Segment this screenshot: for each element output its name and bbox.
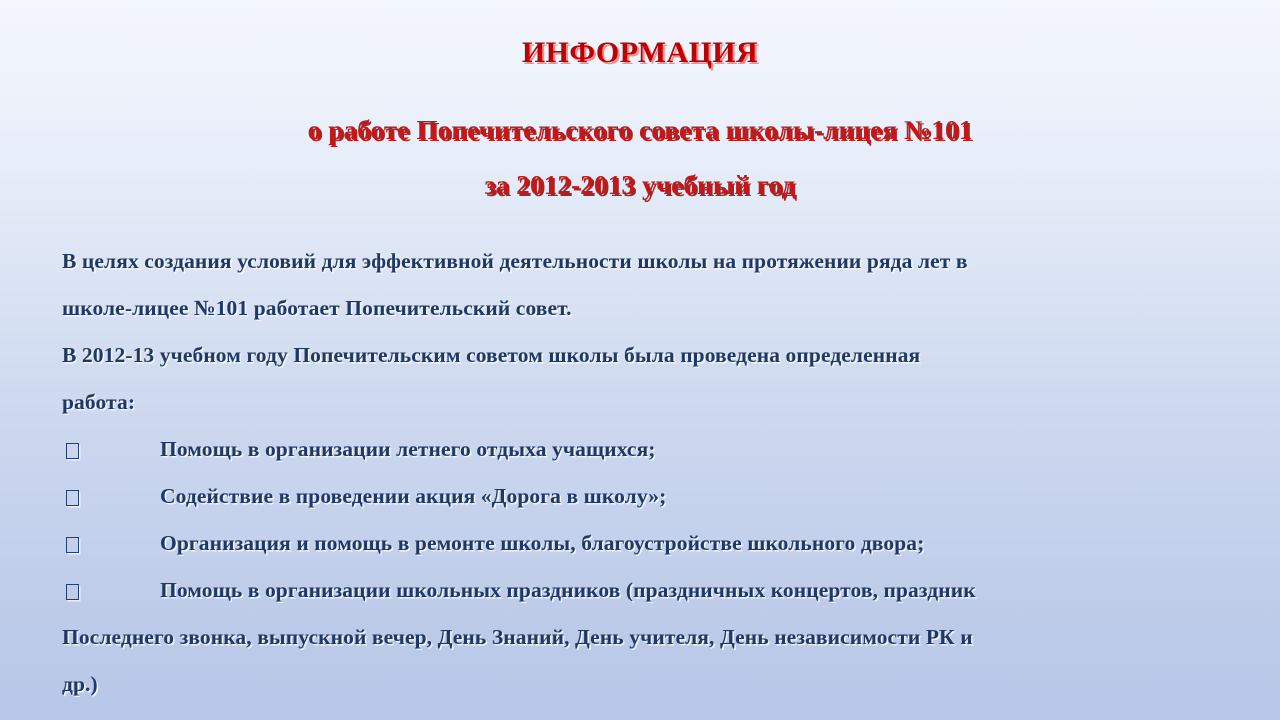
list-item-label: Помощь в организации школьных праздников… [160,567,976,614]
slide-title: ИНФОРМАЦИЯ [0,36,1280,71]
bullet-box-icon [66,584,79,600]
paragraph-1-line-1: В целях создания условий для эффективной… [62,238,1222,285]
list-item-label: Помощь в организации летнего отдыха учащ… [160,426,656,473]
list-item-label: Организация и помощь в ремонте школы, бл… [160,520,924,567]
bullet-box-icon [66,490,79,506]
paragraph-2-line-2: работа: [62,379,1222,426]
list-item: Содействие в проведении акция «Дорога в … [62,473,1222,520]
presentation-slide: ИНФОРМАЦИЯ о работе Попечительского сове… [0,0,1280,720]
list-item-4-continuation-line-1: Последнего звонка, выпускной вечер, День… [62,614,1222,661]
paragraph-1-line-2: школе-лицее №101 работает Попечительский… [62,285,1222,332]
slide-subtitle-line-1: о работе Попечительского совета школы-ли… [0,115,1280,147]
slide-header: ИНФОРМАЦИЯ о работе Попечительского сове… [0,36,1280,202]
list-item-4-continuation-line-2: др.) [62,661,1222,708]
bullet-box-icon [66,537,79,553]
list-item-label: Содействие в проведении акция «Дорога в … [160,473,666,520]
list-item: Организация и помощь в ремонте школы, бл… [62,520,1222,567]
paragraph-2-line-1: В 2012-13 учебном году Попечительским со… [62,332,1222,379]
slide-subtitle-line-2: за 2012-2013 учебный год [0,170,1280,202]
list-item: Помощь в организации летнего отдыха учащ… [62,426,1222,473]
list-item: Помощь в организации школьных праздников… [62,567,1222,614]
slide-body: В целях создания условий для эффективной… [62,238,1222,708]
bullet-box-icon [66,443,79,459]
